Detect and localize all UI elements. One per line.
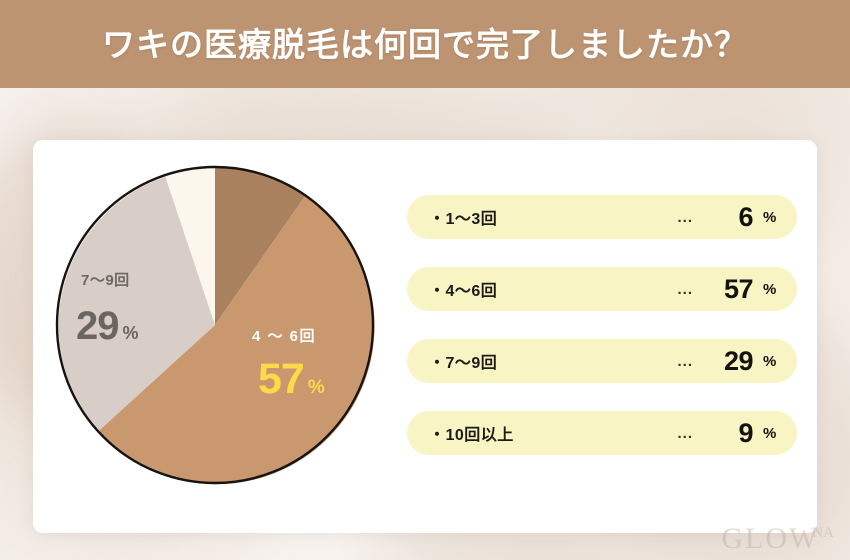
legend-unit: % bbox=[763, 281, 783, 298]
legend-row-4-6: ・4〜6回 ... 57 % bbox=[407, 267, 797, 311]
legend-unit: % bbox=[763, 353, 783, 370]
legend-label: ・10回以上 bbox=[429, 421, 514, 445]
infographic-stage: ワキの医療脱毛は何回で完了しましたか？ 4 ～ 6回 57% 7〜9回 bbox=[0, 0, 850, 560]
legend-dots: ... bbox=[677, 353, 693, 370]
legend-dots: ... bbox=[677, 209, 693, 226]
page-title: ワキの医療脱毛は何回で完了しましたか？ bbox=[102, 28, 748, 61]
legend-value: 29 bbox=[709, 346, 753, 377]
legend-value: 6 bbox=[709, 202, 753, 233]
pie-chart-svg bbox=[52, 162, 378, 488]
legend-label: ・7〜9回 bbox=[429, 349, 497, 373]
legend-value: 9 bbox=[709, 418, 753, 449]
legend-value: 57 bbox=[709, 274, 753, 305]
legend-unit: % bbox=[763, 425, 783, 442]
legend-dots: ... bbox=[677, 425, 693, 442]
legend-dots: ... bbox=[677, 281, 693, 298]
legend-list: ・1〜3回 ... 6 % ・4〜6回 ... 57 % ・7〜9回 ... 2… bbox=[407, 195, 797, 455]
legend-label: ・1〜3回 bbox=[429, 205, 497, 229]
legend-unit: % bbox=[763, 209, 783, 226]
header-bar: ワキの医療脱毛は何回で完了しましたか？ bbox=[0, 0, 850, 88]
legend-row-7-9: ・7〜9回 ... 29 % bbox=[407, 339, 797, 383]
legend-row-10plus: ・10回以上 ... 9 % bbox=[407, 411, 797, 455]
legend-row-1-3: ・1〜3回 ... 6 % bbox=[407, 195, 797, 239]
pie-chart: 4 ～ 6回 57% 7〜9回 29% bbox=[52, 162, 378, 488]
legend-label: ・4〜6回 bbox=[429, 277, 497, 301]
content-card: 4 ～ 6回 57% 7〜9回 29% ・1〜3回 ... 6 % ・4〜6回 … bbox=[33, 140, 817, 533]
watermark-mark: NA bbox=[812, 526, 834, 541]
